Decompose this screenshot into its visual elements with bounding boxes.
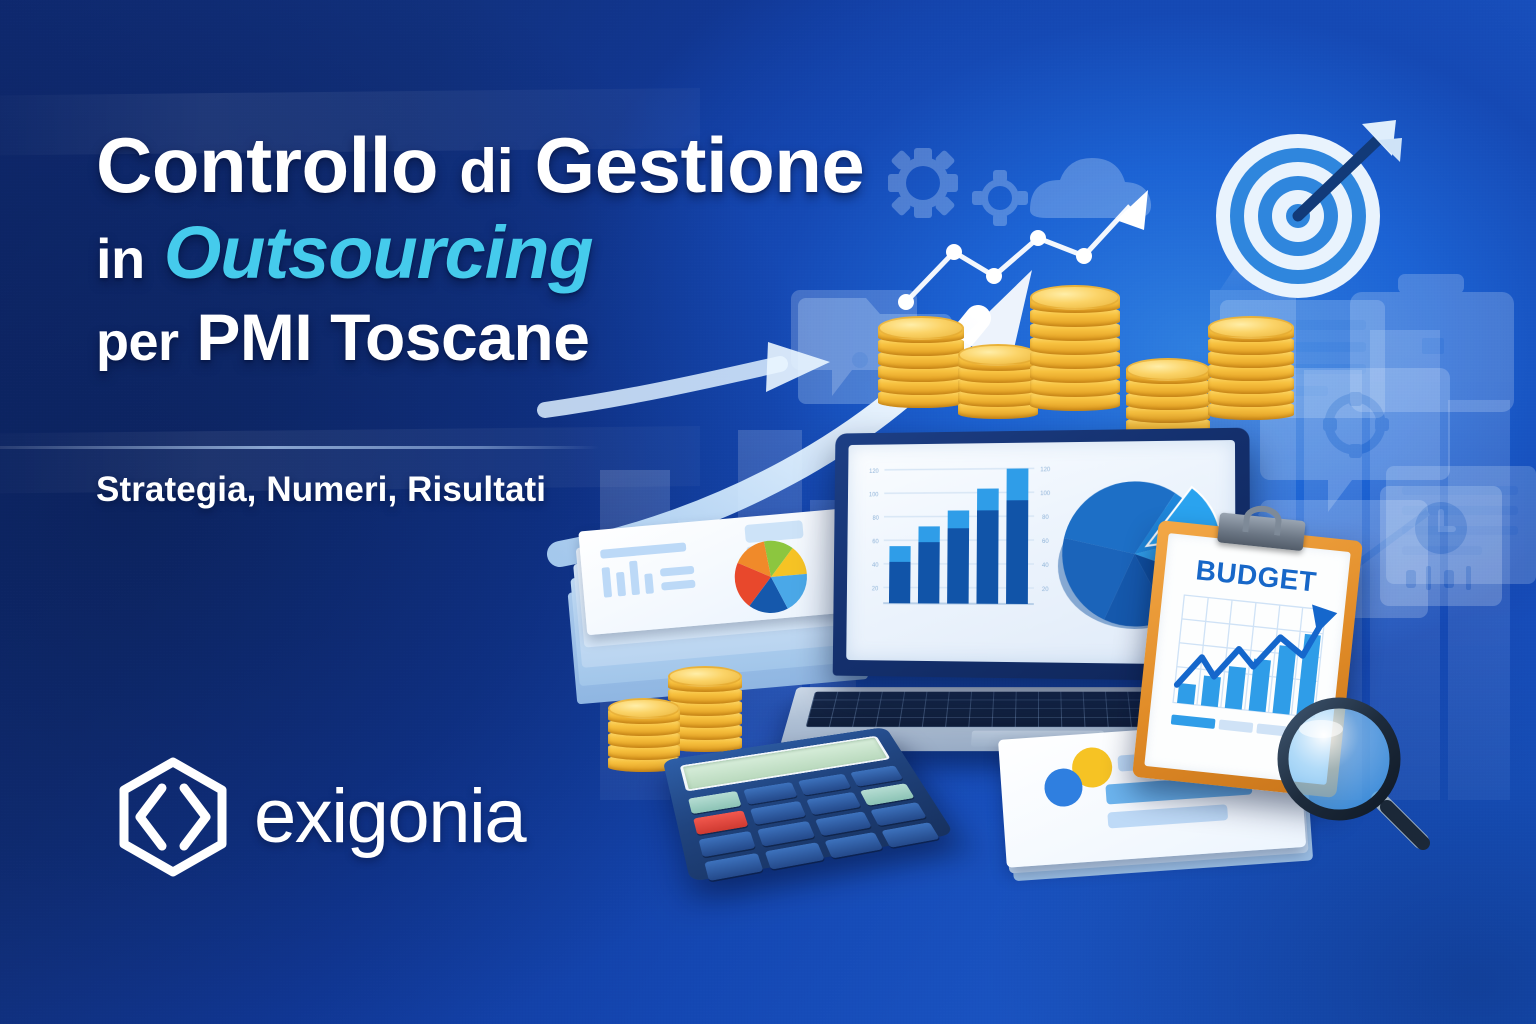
calculator-key-8[interactable] <box>797 774 850 796</box>
headline-word-outsourcing: Outsourcing <box>164 211 593 294</box>
headline-word-controllo: Controllo <box>96 121 438 209</box>
svg-text:40: 40 <box>1042 563 1049 569</box>
svg-text:60: 60 <box>872 539 879 545</box>
headline-word-per: per <box>96 312 179 372</box>
calculator-key-equals[interactable] <box>824 832 883 859</box>
svg-text:40: 40 <box>872 563 879 569</box>
svg-text:120: 120 <box>1040 467 1051 473</box>
laptop-bar-chart: 120100 8060 4020 120100 8060 4020 <box>868 467 1051 604</box>
headline-word-di: di <box>459 137 513 206</box>
svg-text:20: 20 <box>1042 587 1049 593</box>
calculator-key-9[interactable] <box>850 765 903 786</box>
calculator-key-minus[interactable] <box>870 802 927 826</box>
headline-line-3: per PMI Toscane <box>96 304 886 370</box>
svg-text:100: 100 <box>1040 491 1051 497</box>
calculator-key-div[interactable] <box>881 822 940 848</box>
calculator-key-1[interactable] <box>699 831 756 857</box>
hero-banner: 120100 8060 4020 120100 8060 4020 <box>0 0 1536 1024</box>
svg-text:20: 20 <box>872 586 879 592</box>
brand-logo[interactable]: exigonia <box>112 756 525 876</box>
calculator-key-0[interactable] <box>704 853 763 881</box>
magnifier-icon[interactable] <box>1275 695 1425 845</box>
headline-line-1: Controllo di Gestione <box>96 126 886 204</box>
calculator-key-7[interactable] <box>744 782 798 805</box>
calculator-key-5[interactable] <box>806 792 861 815</box>
calculator-key-2[interactable] <box>757 821 814 847</box>
headline-word-pmi-toscane: PMI Toscane <box>196 300 589 374</box>
svg-text:120: 120 <box>869 469 879 475</box>
svg-text:80: 80 <box>872 516 879 522</box>
calculator-key-ac[interactable] <box>693 810 748 835</box>
calculator-key-dot[interactable] <box>765 842 824 869</box>
calculator-key-3[interactable] <box>815 811 872 836</box>
calculator-key-plus[interactable] <box>860 783 915 806</box>
calculator-key-4[interactable] <box>750 801 805 825</box>
svg-text:80: 80 <box>1042 515 1049 521</box>
hexagon-chevron-logo-icon <box>112 756 234 876</box>
pie-slices <box>732 538 810 616</box>
headline-word-gestione: Gestione <box>535 121 865 209</box>
page-title: Controllo di Gestione in Outsourcing per… <box>96 126 886 370</box>
svg-text:100: 100 <box>869 492 879 498</box>
headline-line-2: in Outsourcing <box>96 216 886 290</box>
headline-word-in: in <box>96 227 145 290</box>
brand-wordmark: exigonia <box>254 773 525 860</box>
subtitle: Strategia, Numeri, Risultati <box>96 470 546 510</box>
target-arrow-icon <box>1210 118 1400 308</box>
calculator-key-clear[interactable] <box>688 791 742 814</box>
headline-divider <box>0 446 600 449</box>
svg-text:60: 60 <box>1042 539 1049 545</box>
